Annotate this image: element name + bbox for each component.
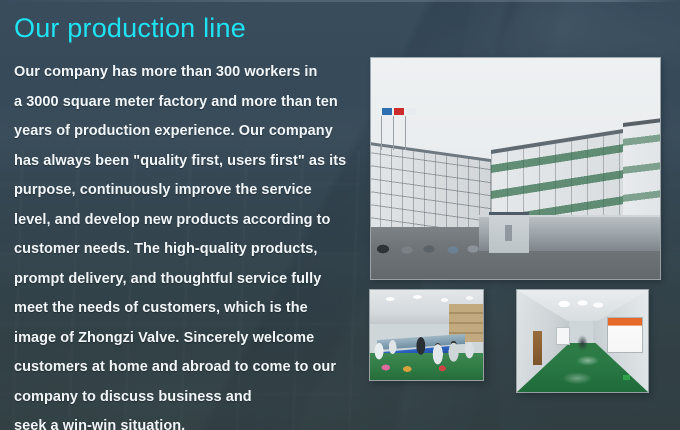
gate-guard-shed — [489, 212, 529, 253]
wall-sign — [556, 327, 570, 345]
exit-sign-icon — [623, 375, 630, 380]
factory-exterior-artwork — [371, 58, 660, 279]
ceiling-light-icon — [517, 296, 648, 314]
paragraph-line: level, and develop new products accordin… — [14, 206, 359, 236]
factory-corridor-artwork — [517, 290, 648, 392]
corridor-vanishing-point — [577, 335, 587, 351]
paragraph-line: image of Zhongzi Valve. Sincerely welcom… — [14, 324, 359, 354]
top-divider-rule — [0, 0, 680, 2]
notice-board — [607, 317, 643, 354]
paragraph-line: Our company has more than 300 workers in — [14, 58, 359, 88]
paragraph-line: customers at home and abroad to come to … — [14, 353, 359, 383]
page-title: Our production line — [14, 12, 359, 44]
work-stools — [370, 360, 483, 374]
paragraph-line: seek a win-win situation. — [14, 412, 359, 430]
paragraph-line: purpose, continuously improve the servic… — [14, 176, 359, 206]
paragraph-line: meet the needs of customers, which is th… — [14, 294, 359, 324]
paragraph-line: customer needs. The high-quality product… — [14, 235, 359, 265]
factory-corridor-photo — [517, 290, 648, 392]
parked-cars — [371, 239, 483, 257]
paragraph-line: company to discuss business and — [14, 383, 359, 413]
paragraph-line: has always been "quality first, users fi… — [14, 147, 359, 177]
factory-exterior-photo — [371, 58, 660, 279]
paragraph-line: a 3000 square meter factory and more tha… — [14, 88, 359, 118]
assembly-workshop-artwork — [370, 290, 483, 380]
production-line-section: Our production line Our company has more… — [0, 0, 680, 430]
paragraph-line: prompt delivery, and thoughtful service … — [14, 265, 359, 295]
corridor-door — [533, 331, 542, 366]
paragraph-line: years of production experience. Our comp… — [14, 117, 359, 147]
assembly-workshop-photo — [370, 290, 483, 380]
description-paragraph: Our company has more than 300 workers in… — [14, 58, 359, 430]
flagpoles — [377, 106, 421, 150]
text-column: Our production line Our company has more… — [14, 12, 359, 430]
